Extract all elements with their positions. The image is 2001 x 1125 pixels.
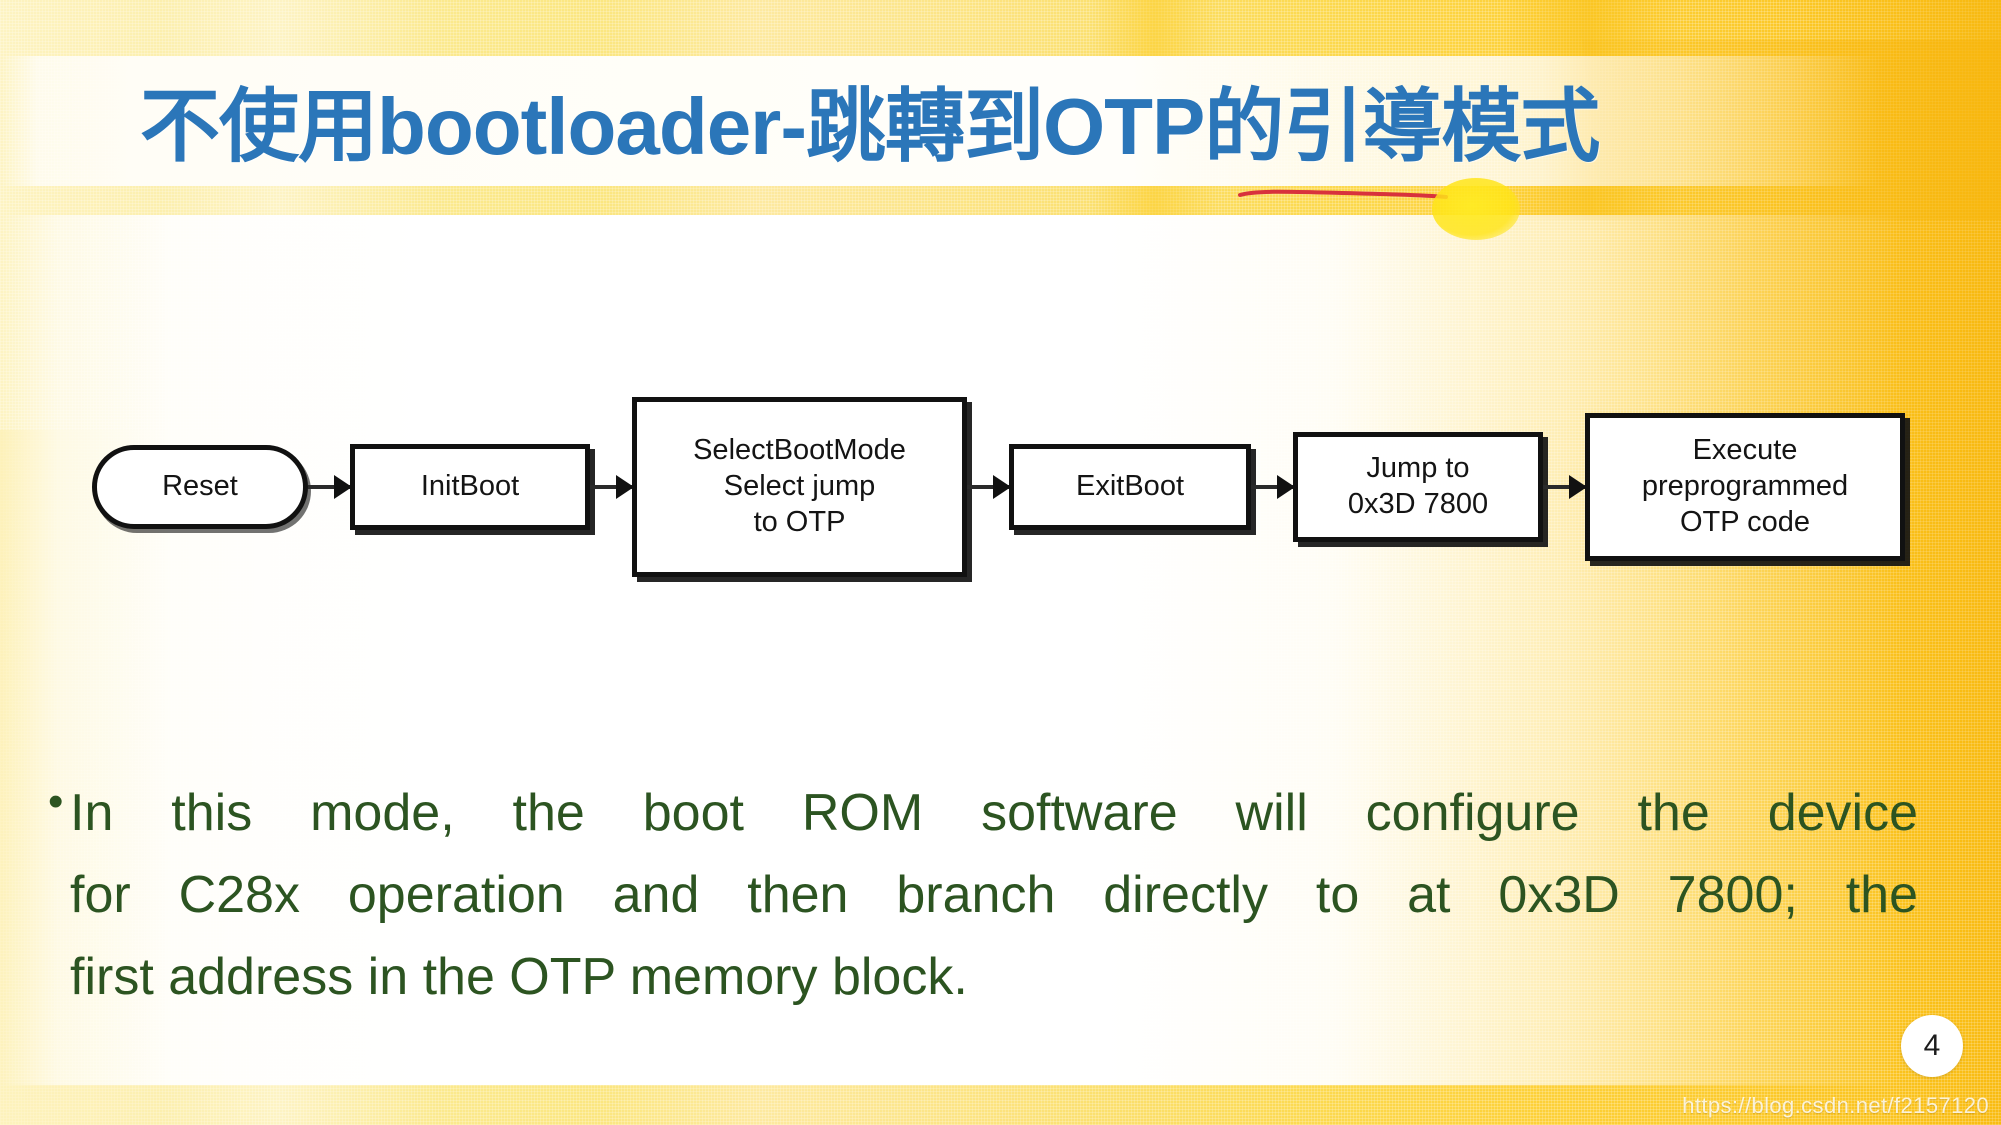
flow-arrow-initboot-to-select <box>590 484 632 490</box>
flow-node-jump-line-2: 0x3D 7800 <box>1348 488 1488 520</box>
body-line-2-text: for C28x operation and then branch direc… <box>70 854 1918 936</box>
flow-node-reset: Reset <box>92 445 308 529</box>
flow-node-selectbootmode-label: SelectBootMode Select jump to OTP <box>693 433 906 541</box>
bullet-item: • In this mode, the boot ROM software wi… <box>48 772 1918 1018</box>
flow-node-execute-line-1: Execute <box>1693 434 1798 466</box>
flow-node-selectbootmode: SelectBootMode Select jump to OTP <box>632 397 967 577</box>
page-title: 不使用bootloader-跳轉到OTP的引導模式 <box>140 62 1599 178</box>
body-line-1: In this mode, the boot ROM software will… <box>70 772 1918 854</box>
flow-node-execute-label: Execute preprogrammed OTP code <box>1642 433 1848 541</box>
arrow-head-icon <box>1277 475 1295 499</box>
slide-root: 不使用bootloader-跳轉到OTP的引導模式 Reset InitBoot… <box>0 0 2001 1125</box>
body-line-1-text: In this mode, the boot ROM software will… <box>70 772 1918 854</box>
page-number-badge: 4 <box>1901 1015 1963 1077</box>
flow-arrow-exitboot-to-jump <box>1251 484 1293 490</box>
flow-node-execute-otp-code: Execute preprogrammed OTP code <box>1585 413 1905 561</box>
flow-node-jump-to-address: Jump to 0x3D 7800 <box>1293 432 1543 542</box>
bullet-marker: • <box>48 772 70 831</box>
flow-node-selectbootmode-line-2: Select jump <box>724 470 876 502</box>
arrow-head-icon <box>993 475 1011 499</box>
flow-arrow-select-to-exitboot <box>967 484 1009 490</box>
body-line-2: for C28x operation and then branch direc… <box>70 854 1918 936</box>
flow-arrow-reset-to-initboot <box>308 484 350 490</box>
flow-node-initboot-label: InitBoot <box>421 469 519 505</box>
flow-node-exitboot: ExitBoot <box>1009 444 1251 530</box>
flow-node-execute-line-2: preprogrammed <box>1642 470 1848 502</box>
bullet-text: In this mode, the boot ROM software will… <box>70 772 1918 1018</box>
body-line-3: first address in the OTP memory block. <box>70 936 1918 1018</box>
flow-arrow-jump-to-execute <box>1543 484 1585 490</box>
flow-node-execute-line-3: OTP code <box>1680 506 1810 538</box>
body-line-3-text: first address in the OTP memory block. <box>70 948 968 1006</box>
boot-flow-diagram: Reset InitBoot SelectBootMode Select jum… <box>92 392 1922 582</box>
flow-node-initboot: InitBoot <box>350 444 590 530</box>
watermark-url: https://blog.csdn.net/f2157120 <box>1682 1093 1989 1119</box>
flow-node-reset-label: Reset <box>162 469 238 505</box>
flow-node-jump-label: Jump to 0x3D 7800 <box>1348 451 1488 523</box>
flow-node-selectbootmode-line-1: SelectBootMode <box>693 434 906 466</box>
body-text-block: • In this mode, the boot ROM software wi… <box>48 772 1918 1018</box>
arrow-head-icon <box>334 475 352 499</box>
arrow-head-icon <box>1569 475 1587 499</box>
flow-node-jump-line-1: Jump to <box>1366 452 1469 484</box>
flow-node-selectbootmode-line-3: to OTP <box>754 506 846 538</box>
arrow-head-icon <box>616 475 634 499</box>
flow-node-exitboot-label: ExitBoot <box>1076 469 1184 505</box>
